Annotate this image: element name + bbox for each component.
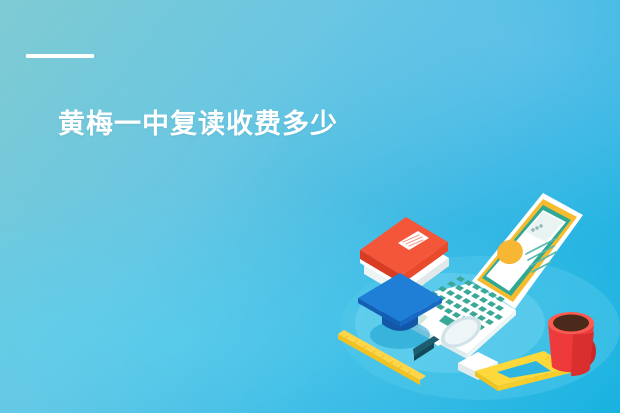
browser-dot-2 bbox=[535, 226, 538, 229]
education-illustration bbox=[330, 188, 620, 413]
mug-coffee bbox=[553, 315, 589, 332]
coffee-mug bbox=[548, 312, 596, 376]
browser-dot-3 bbox=[539, 224, 542, 227]
browser-dot-1 bbox=[531, 228, 534, 231]
promo-banner: 黄梅一中复读收费多少 bbox=[0, 0, 620, 413]
page-title: 黄梅一中复读收费多少 bbox=[58, 108, 338, 142]
accent-rule bbox=[26, 54, 94, 58]
